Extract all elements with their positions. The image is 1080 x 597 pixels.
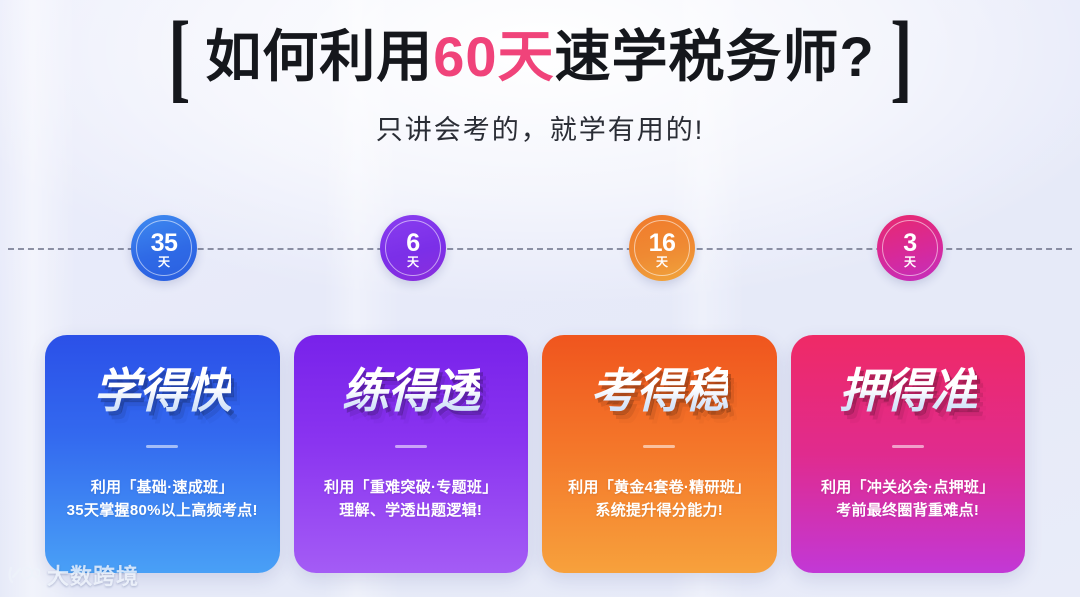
- timeline-node-1[interactable]: 35 天: [131, 215, 197, 281]
- title-part-1: 如何利用: [205, 25, 433, 88]
- card-desc-line-2: 考前最终圈背重难点!: [821, 499, 995, 522]
- card-desc-line-1: 利用「冲关必会·点押班」: [821, 479, 995, 496]
- feature-card-4[interactable]: 押得准 利用「冲关必会·点押班」 考前最终圈背重难点!: [791, 335, 1026, 573]
- timeline-node-3[interactable]: 16 天: [629, 215, 695, 281]
- card-divider: [146, 445, 178, 448]
- page-title: [ 如何利用60天速学税务师? ]: [0, 12, 1080, 102]
- title-part-2: 速学税务师?: [555, 25, 875, 88]
- banner-header: [ 如何利用60天速学税务师? ] 只讲会考的，就学有用的!: [0, 0, 1080, 147]
- card-divider: [395, 445, 427, 448]
- timeline: 35 天 6 天 16 天 3 天: [0, 215, 1080, 285]
- bracket-right-icon: ]: [890, 7, 912, 107]
- card-title: 押得准: [839, 365, 977, 417]
- timeline-node-4[interactable]: 3 天: [877, 215, 943, 281]
- card-description: 利用「黄金4套卷·精研班」 系统提升得分能力!: [560, 476, 758, 522]
- card-title: 考得稳: [590, 365, 728, 417]
- watermark: 大数跨境: [8, 559, 139, 591]
- node-ring-icon: [882, 220, 938, 276]
- node-ring-icon: [385, 220, 441, 276]
- card-title: 练得透: [342, 365, 480, 417]
- feature-card-1[interactable]: 学得快 利用「基础·速成班」 35天掌握80%以上高频考点!: [45, 335, 280, 573]
- card-desc-line-2: 系统提升得分能力!: [568, 499, 750, 522]
- card-desc-line-1: 利用「黄金4套卷·精研班」: [568, 479, 750, 496]
- title-text: 如何利用60天速学税务师?: [205, 28, 875, 86]
- timeline-node-2[interactable]: 6 天: [380, 215, 446, 281]
- promo-banner: [ 如何利用60天速学税务师? ] 只讲会考的，就学有用的! 35 天 6 天 …: [0, 0, 1080, 597]
- card-divider: [643, 445, 675, 448]
- watermark-brand: 大数跨境: [47, 559, 139, 591]
- card-divider: [892, 445, 924, 448]
- feature-card-2[interactable]: 练得透 利用「重难突破·专题班」 理解、学透出题逻辑!: [294, 335, 529, 573]
- node-ring-icon: [136, 220, 192, 276]
- bracket-left-icon: [: [168, 7, 190, 107]
- card-title: 学得快: [93, 365, 231, 417]
- brand-logo-icon: [8, 565, 40, 585]
- card-desc-line-1: 利用「基础·速成班」: [91, 479, 234, 496]
- node-ring-icon: [634, 220, 690, 276]
- card-desc-line-2: 35天掌握80%以上高频考点!: [67, 499, 258, 522]
- feature-cards: 学得快 利用「基础·速成班」 35天掌握80%以上高频考点! 练得透 利用「重难…: [45, 335, 1025, 573]
- card-description: 利用「基础·速成班」 35天掌握80%以上高频考点!: [59, 476, 266, 522]
- title-accent: 60天: [433, 25, 554, 88]
- page-subtitle: 只讲会考的，就学有用的!: [0, 108, 1080, 147]
- feature-card-3[interactable]: 考得稳 利用「黄金4套卷·精研班」 系统提升得分能力!: [542, 335, 777, 573]
- card-desc-line-1: 利用「重难突破·专题班」: [324, 479, 498, 496]
- card-desc-line-2: 理解、学透出题逻辑!: [324, 499, 498, 522]
- card-description: 利用「冲关必会·点押班」 考前最终圈背重难点!: [813, 476, 1003, 522]
- card-description: 利用「重难突破·专题班」 理解、学透出题逻辑!: [316, 476, 506, 522]
